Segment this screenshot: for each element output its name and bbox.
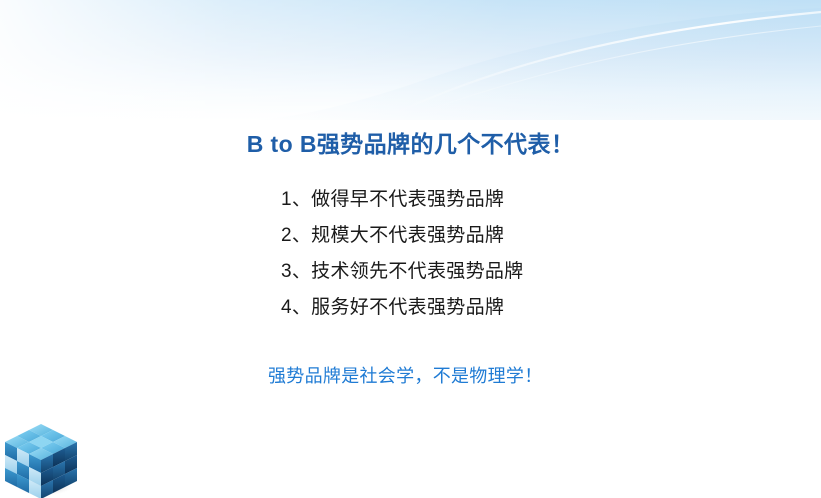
slide-content: B to B强势品牌的几个不代表！ 1、做得早不代表强势品牌 2、规模大不代表强… bbox=[0, 0, 821, 498]
list-item: 1、做得早不代表强势品牌 bbox=[281, 182, 523, 218]
cube-logo-graphic bbox=[4, 418, 82, 498]
list-item: 4、服务好不代表强势品牌 bbox=[281, 290, 523, 326]
slide-canvas: B to B强势品牌的几个不代表！ 1、做得早不代表强势品牌 2、规模大不代表强… bbox=[0, 0, 821, 498]
blue-cube-logo-icon bbox=[4, 418, 82, 498]
list-item: 2、规模大不代表强势品牌 bbox=[281, 218, 523, 254]
list-item: 3、技术领先不代表强势品牌 bbox=[281, 254, 523, 290]
bullet-list: 1、做得早不代表强势品牌 2、规模大不代表强势品牌 3、技术领先不代表强势品牌 … bbox=[281, 182, 523, 326]
tagline-text: 强势品牌是社会学，不是物理学！ bbox=[268, 362, 543, 388]
page-title: B to B强势品牌的几个不代表！ bbox=[0, 130, 821, 160]
